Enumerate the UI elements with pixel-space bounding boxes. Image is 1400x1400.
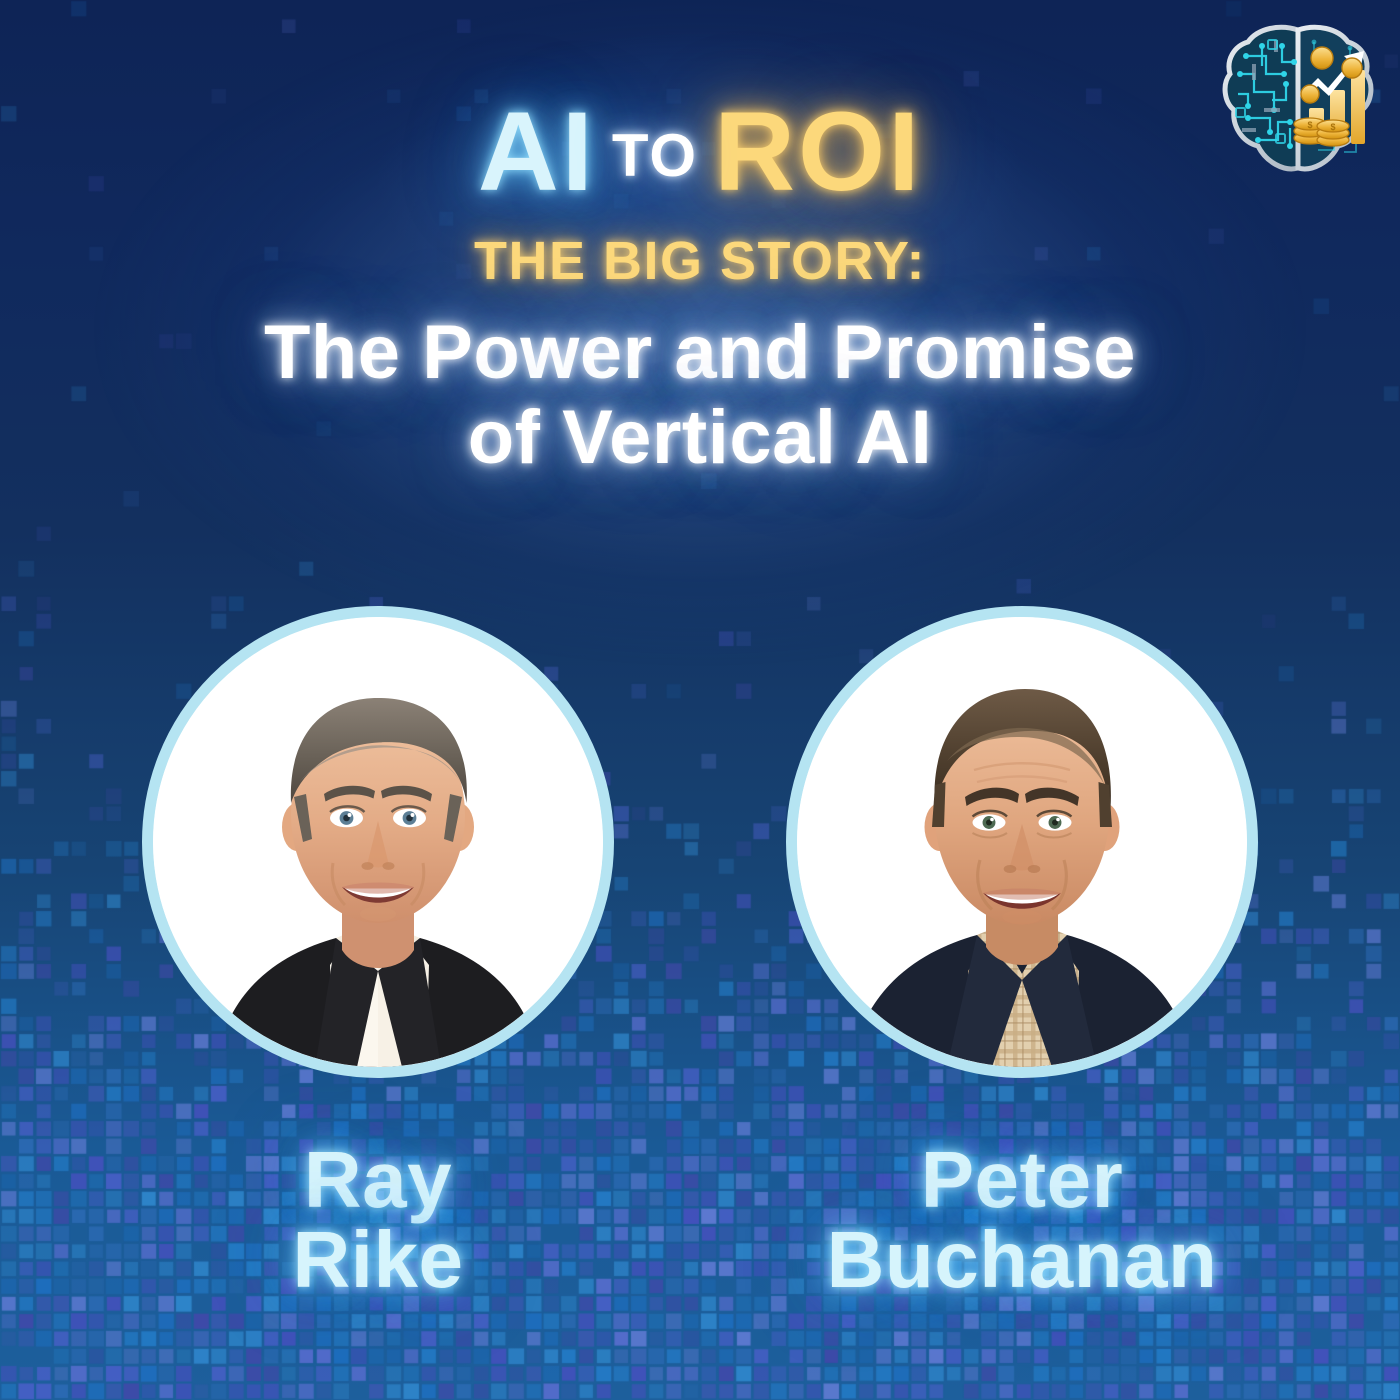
- title-roi: ROI: [714, 89, 922, 214]
- avatar: [786, 606, 1258, 1078]
- episode-title-line-2: of Vertical AI: [0, 395, 1400, 480]
- title-block: AITOROI THE BIG STORY: The Power and Pro…: [0, 96, 1400, 480]
- host-last-name: Rike: [142, 1220, 614, 1300]
- segment-label: THE BIG STORY:: [0, 230, 1400, 292]
- title-to: TO: [612, 122, 698, 189]
- title-ai: AI: [478, 89, 596, 214]
- host-card-peter-buchanan: Peter Buchanan: [786, 606, 1258, 1300]
- host-first-name: Ray: [142, 1140, 614, 1220]
- host-last-name: Buchanan: [786, 1220, 1258, 1300]
- host-card-ray-rike: Ray Rike: [142, 606, 614, 1300]
- hosts-row: Ray Rike: [0, 606, 1400, 1300]
- show-title: AITOROI: [0, 96, 1400, 208]
- host-name: Ray Rike: [142, 1140, 614, 1300]
- podcast-cover: $ $ AITOROI THE BIG STORY: The Power and…: [0, 0, 1400, 1400]
- host-first-name: Peter: [786, 1140, 1258, 1220]
- host-name: Peter Buchanan: [786, 1140, 1258, 1300]
- episode-title-line-1: The Power and Promise: [0, 310, 1400, 395]
- episode-title: The Power and Promise of Vertical AI: [0, 310, 1400, 480]
- avatar: [142, 606, 614, 1078]
